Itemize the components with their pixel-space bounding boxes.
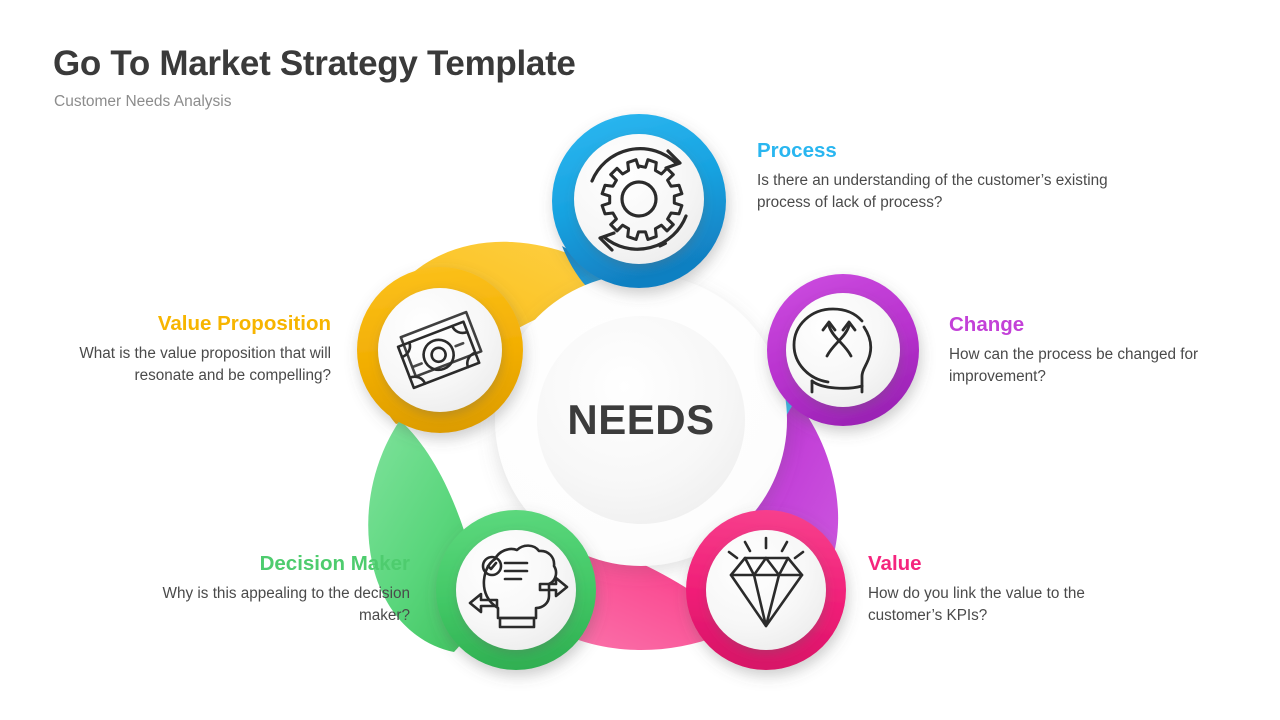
text-block-change: Change How can the process be changed fo… <box>949 313 1239 388</box>
node-process[interactable] <box>552 114 726 288</box>
label-value: Value <box>868 552 1158 576</box>
text-block-decision-maker: Decision Maker Why is this appealing to … <box>110 552 410 627</box>
label-decision-maker: Decision Maker <box>110 552 410 576</box>
description-process: Is there an understanding of the custome… <box>757 170 1127 214</box>
node-value-proposition[interactable] <box>357 267 523 433</box>
label-value-proposition: Value Proposition <box>50 312 331 336</box>
description-change: How can the process be changed for impro… <box>949 344 1239 388</box>
node-decision-maker[interactable] <box>436 510 596 670</box>
text-block-value: Value How do you link the value to the c… <box>868 552 1158 627</box>
text-block-process: Process Is there an understanding of the… <box>757 139 1127 214</box>
slide-canvas: Go To Market Strategy Template Customer … <box>0 0 1280 720</box>
description-decision-maker: Why is this appealing to the decision ma… <box>110 583 410 627</box>
label-process: Process <box>757 139 1127 163</box>
node-value[interactable] <box>686 510 846 670</box>
label-change: Change <box>949 313 1239 337</box>
description-value: How do you link the value to the custome… <box>868 583 1158 627</box>
node-change[interactable] <box>767 274 919 426</box>
description-value-proposition: What is the value proposition that will … <box>50 343 331 387</box>
text-block-value-proposition: Value Proposition What is the value prop… <box>50 312 331 387</box>
